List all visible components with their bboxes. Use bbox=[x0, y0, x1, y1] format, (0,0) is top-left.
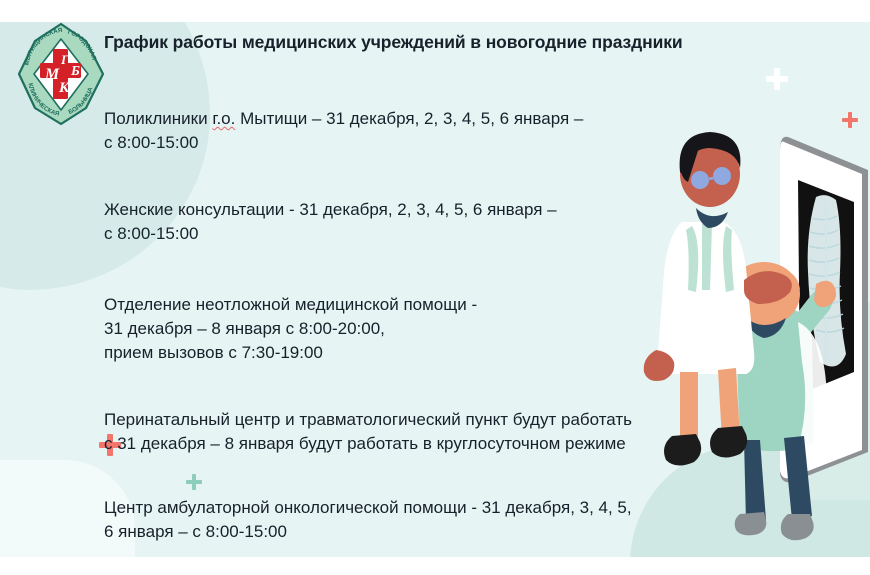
slide-text-content: График работы медицинских учреждений в н… bbox=[104, 30, 744, 54]
paragraph-oncology-center-line-2: 6 января – с 8:00-15:00 bbox=[104, 520, 632, 544]
mgkb-emblem-logo: М Г Б К МЫТИЩИНСКАЯ ГОРОДСКАЯ КЛИНИЧЕСКА… bbox=[14, 22, 108, 126]
paragraph-perinatal-trauma: Перинатальный центр и травматологический… bbox=[104, 408, 632, 456]
svg-text:М: М bbox=[44, 66, 60, 83]
paragraph-polyclinics: Поликлиники г.о. Мытищи – 31 декабря, 2,… bbox=[104, 107, 583, 155]
paragraph-womens-consultations-line-1: Женские консультации - 31 декабря, 2, 3,… bbox=[104, 198, 557, 222]
spellcheck-word: г.о. bbox=[212, 109, 235, 128]
paragraph-oncology-center-line-1: Центр амбулаторной онкологической помощи… bbox=[104, 496, 632, 520]
cross-white-top-icon bbox=[766, 68, 788, 90]
bottom-white-band bbox=[0, 557, 870, 575]
paragraph-perinatal-trauma-line-2: с 31 декабря – 8 января будут работать в… bbox=[104, 432, 632, 456]
cross-green-lower-left-icon bbox=[186, 474, 202, 490]
paragraph-womens-consultations: Женские консультации - 31 декабря, 2, 3,… bbox=[104, 198, 557, 246]
paragraph-womens-consultations-line-2: с 8:00-15:00 bbox=[104, 222, 557, 246]
paragraph-oncology-center: Центр амбулаторной онкологической помощи… bbox=[104, 496, 632, 544]
paragraph-polyclinics-line-1: Поликлиники г.о. Мытищи – 31 декабря, 2,… bbox=[104, 107, 583, 131]
paragraph-emergency-department-line-3: прием вызовов с 7:30-19:00 bbox=[104, 341, 477, 365]
svg-text:Г: Г bbox=[60, 52, 69, 67]
paragraph-polyclinics-line-2: с 8:00-15:00 bbox=[104, 131, 583, 155]
background-blob-right bbox=[792, 300, 870, 500]
paragraph-emergency-department-line-1: Отделение неотложной медицинской помощи … bbox=[104, 293, 477, 317]
paragraph-emergency-department: Отделение неотложной медицинской помощи … bbox=[104, 293, 477, 365]
text-after-spell: Мытищи – 31 декабря, 2, 3, 4, 5, 6 январ… bbox=[235, 109, 583, 128]
slide-background bbox=[0, 0, 870, 575]
page-title: График работы медицинских учреждений в н… bbox=[104, 30, 744, 54]
top-white-band bbox=[0, 0, 870, 22]
cross-red-top-right-icon bbox=[842, 112, 858, 128]
svg-text:К: К bbox=[58, 80, 70, 96]
cross-green-left-of-tablet-icon bbox=[710, 140, 725, 155]
text-before-spell: Поликлиники bbox=[104, 109, 212, 128]
svg-text:Б: Б bbox=[70, 64, 80, 79]
paragraph-perinatal-trauma-line-1: Перинатальный центр и травматологический… bbox=[104, 408, 632, 432]
presentation-slide: М Г Б К МЫТИЩИНСКАЯ ГОРОДСКАЯ КЛИНИЧЕСКА… bbox=[0, 0, 870, 575]
paragraph-emergency-department-line-2: 31 декабря – 8 января с 8:00-20:00, bbox=[104, 317, 477, 341]
